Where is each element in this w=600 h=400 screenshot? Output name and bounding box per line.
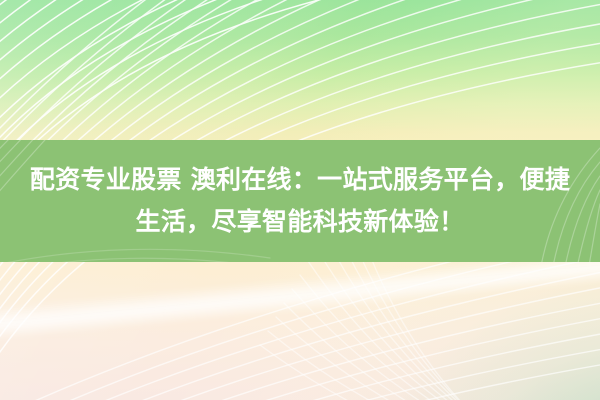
headline-text: 配资专业股票 澳利在线：一站式服务平台，便捷 生活，尽享智能科技新体验！ [17, 159, 583, 243]
headline-line-2: 生活，尽享智能科技新体验！ [17, 201, 583, 243]
headline-line-1: 配资专业股票 澳利在线：一站式服务平台，便捷 [30, 165, 570, 194]
promo-banner: 配资专业股票 澳利在线：一站式服务平台，便捷 生活，尽享智能科技新体验！ [0, 0, 600, 400]
headline-band: 配资专业股票 澳利在线：一站式服务平台，便捷 生活，尽享智能科技新体验！ [0, 140, 600, 262]
